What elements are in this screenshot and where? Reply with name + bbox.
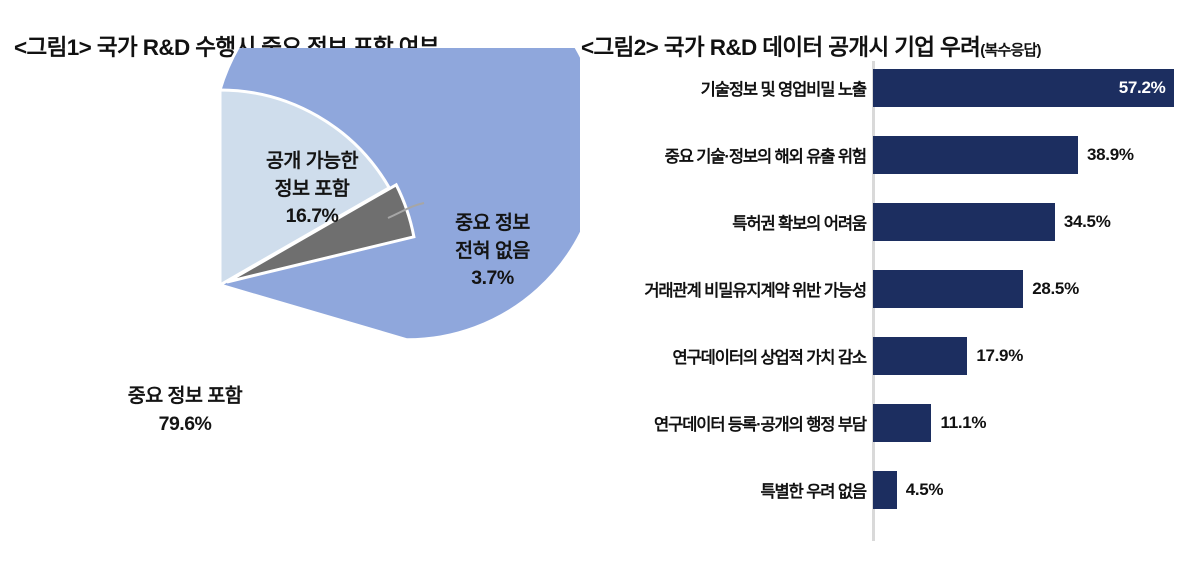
bar-value-label: 11.1% bbox=[931, 413, 986, 433]
pie-label-none-line2: 전혀 없음 bbox=[455, 240, 530, 262]
bar-row: 연구데이터 등록·공개의 행정 부담11.1% bbox=[580, 394, 1200, 452]
bar-chart: 기술정보 및 영업비밀 노출57.2%중요 기술·정보의 해외 유출 위험38.… bbox=[580, 55, 1200, 550]
bar-category-label: 특허권 확보의 어려움 bbox=[536, 210, 866, 234]
figure-2-bar-section: <그림2> 국가 R&D 데이터 공개시 기업 우려(복수응답) 기술정보 및 … bbox=[580, 0, 1200, 575]
bar-value-label: 34.5% bbox=[1055, 212, 1111, 232]
bar-track: 17.9% bbox=[873, 327, 1200, 385]
bar-category-label: 기술정보 및 영업비밀 노출 bbox=[536, 76, 866, 100]
pie-chart: 공개 가능한 정보 포함 16.7% 중요 정보 전혀 없음 3.7% 중요 정… bbox=[0, 48, 580, 538]
pie-label-open-value: 16.7% bbox=[222, 203, 402, 231]
bar-track: 11.1% bbox=[873, 394, 1200, 452]
bar-fill[interactable]: 57.2% bbox=[873, 69, 1174, 107]
bar-row: 기술정보 및 영업비밀 노출57.2% bbox=[580, 59, 1200, 117]
bar-category-label: 거래관계 비밀유지계약 위반 가능성 bbox=[536, 277, 866, 301]
bar-value-label: 38.9% bbox=[1078, 145, 1134, 165]
bar-value-label: 57.2% bbox=[1119, 78, 1175, 98]
bar-fill[interactable] bbox=[873, 270, 1023, 308]
figure-1-pie-section: <그림1> 국가 R&D 수행시 중요 정보 포함 여부 공개 가능한 정보 포… bbox=[0, 0, 580, 575]
bar-track: 34.5% bbox=[873, 193, 1200, 251]
pie-label-open: 공개 가능한 정보 포함 16.7% bbox=[222, 148, 402, 231]
bar-category-label: 특별한 우려 없음 bbox=[536, 478, 866, 502]
pie-label-important-text: 중요 정보 포함 bbox=[128, 385, 242, 407]
bar-category-label: 연구데이터의 상업적 가치 감소 bbox=[536, 344, 866, 368]
bar-row: 연구데이터의 상업적 가치 감소17.9% bbox=[580, 327, 1200, 385]
bar-track: 4.5% bbox=[873, 461, 1200, 519]
pie-label-important-value: 79.6% bbox=[60, 411, 310, 439]
bar-value-label: 28.5% bbox=[1023, 279, 1079, 299]
bar-row: 중요 기술·정보의 해외 유출 위험38.9% bbox=[580, 126, 1200, 184]
bar-fill[interactable] bbox=[873, 471, 897, 509]
bar-value-label: 17.9% bbox=[967, 346, 1023, 366]
bar-fill[interactable] bbox=[873, 404, 931, 442]
bar-row: 특허권 확보의 어려움34.5% bbox=[580, 193, 1200, 251]
bar-value-label: 4.5% bbox=[897, 480, 944, 500]
bar-fill[interactable] bbox=[873, 337, 967, 375]
bar-row: 특별한 우려 없음4.5% bbox=[580, 461, 1200, 519]
bar-track: 57.2% bbox=[873, 59, 1200, 117]
pie-label-open-line2: 정보 포함 bbox=[275, 178, 350, 200]
pie-label-none-line1: 중요 정보 bbox=[455, 212, 530, 234]
bar-category-label: 중요 기술·정보의 해외 유출 위험 bbox=[536, 143, 866, 167]
bar-category-label: 연구데이터 등록·공개의 행정 부담 bbox=[536, 411, 866, 435]
bar-track: 38.9% bbox=[873, 126, 1200, 184]
bar-fill[interactable] bbox=[873, 136, 1078, 174]
bar-row: 거래관계 비밀유지계약 위반 가능성28.5% bbox=[580, 260, 1200, 318]
bar-fill[interactable] bbox=[873, 203, 1055, 241]
pie-label-important: 중요 정보 포함 79.6% bbox=[60, 383, 310, 438]
pie-label-open-line1: 공개 가능한 bbox=[266, 150, 358, 172]
bar-track: 28.5% bbox=[873, 260, 1200, 318]
figures-page: <그림1> 국가 R&D 수행시 중요 정보 포함 여부 공개 가능한 정보 포… bbox=[0, 0, 1200, 575]
